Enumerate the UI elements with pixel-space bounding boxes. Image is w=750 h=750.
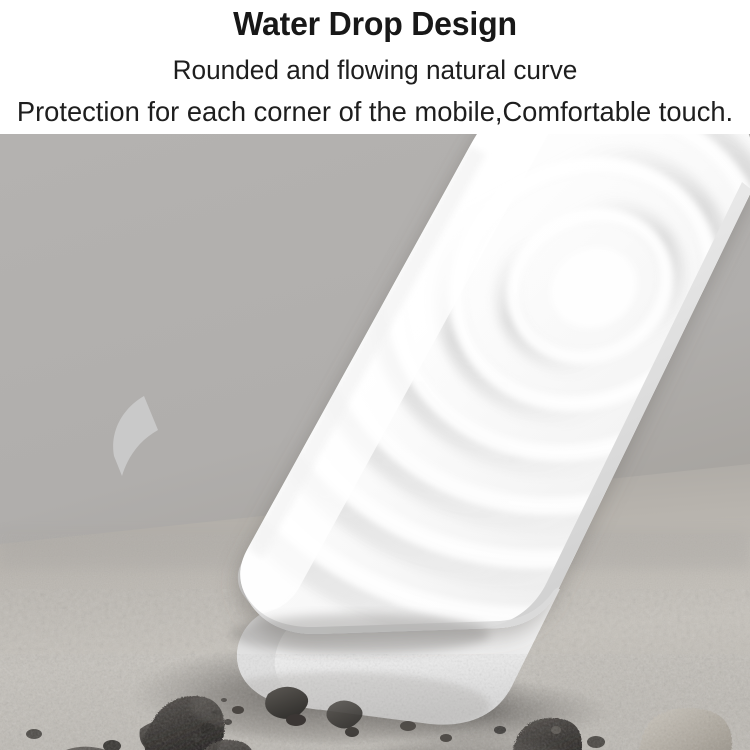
header-text-block: Water Drop Design Rounded and flowing na…: [0, 0, 750, 134]
subtitle-line-2: Protection for each corner of the mobile…: [9, 96, 740, 127]
subtitle-line-1: Rounded and flowing natural curve: [11, 55, 739, 85]
foreground-debris-layer: [0, 134, 750, 750]
product-photo: [0, 134, 750, 750]
foreground-dust-veil: [190, 672, 490, 740]
page-title: Water Drop Design: [11, 7, 739, 41]
product-feature-image: Water Drop Design Rounded and flowing na…: [0, 0, 750, 750]
